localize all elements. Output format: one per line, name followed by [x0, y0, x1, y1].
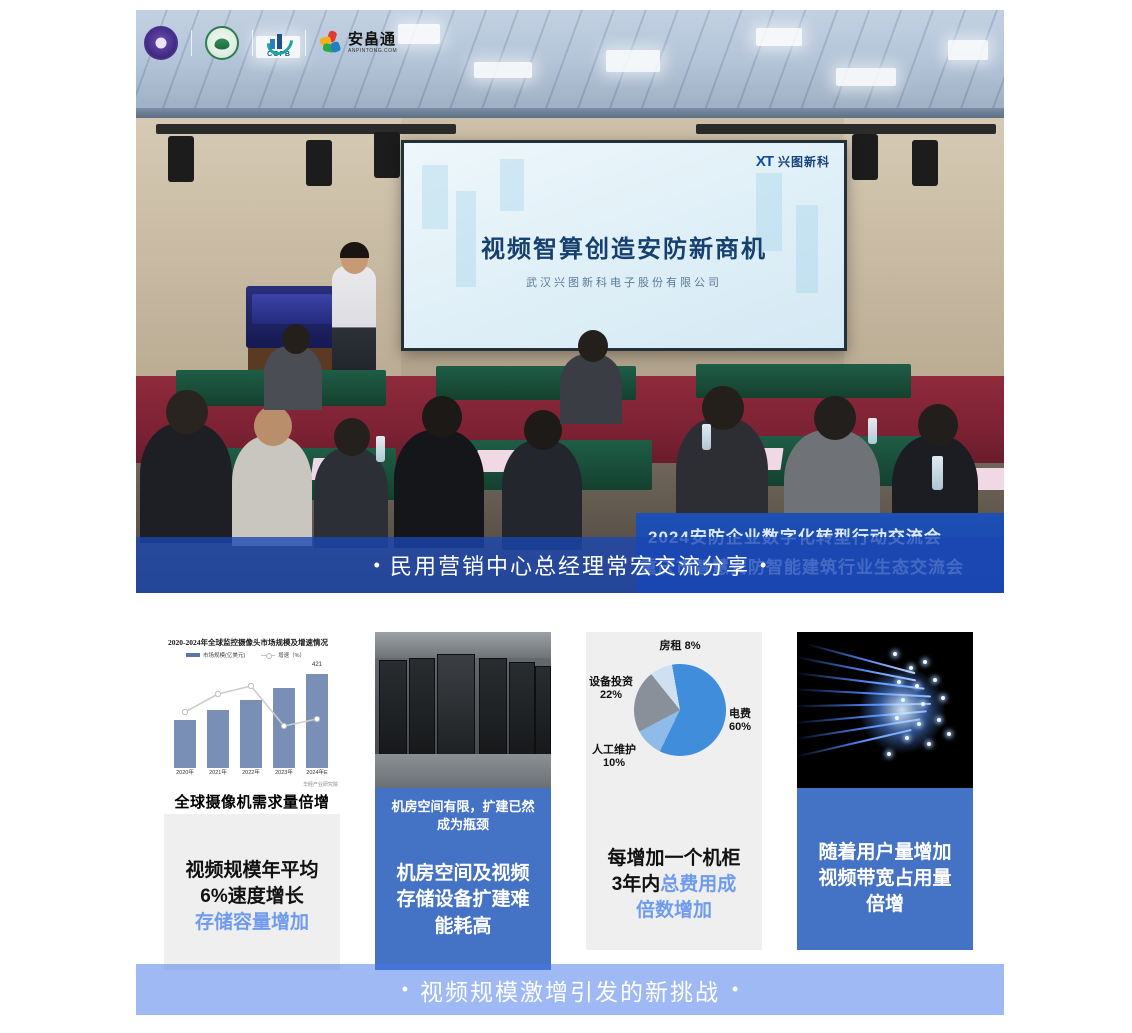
infographic-card-row: 2020-2024年全球监控摄像头市场规模及增速情况 市场规模(亿美元) 增速（…: [164, 632, 979, 982]
server-rack: [437, 654, 475, 760]
audience-head: [524, 410, 562, 450]
audience-member: [314, 448, 388, 548]
fiber-optic-photo: [797, 632, 973, 788]
ceiling-truss: [156, 124, 456, 134]
fiber-tip: [941, 696, 945, 700]
fiber-tip: [901, 698, 905, 702]
card-media-pie: 房租 8% 设备投资 22% 人工维护 10% 电费 60%: [586, 632, 762, 788]
presenter-figure: [332, 266, 376, 371]
camera-market-chart: 2020-2024年全球监控摄像头市场规模及增速情况 市场规模(亿美元) 增速（…: [164, 632, 340, 788]
speaker-box-icon: [912, 140, 938, 186]
fiber-tip: [915, 684, 919, 688]
chart-growth-line: [170, 664, 334, 768]
card-headline: 每增加一个机柜 3年内总费用成 倍数增加: [594, 846, 754, 925]
fiber-tip: [909, 666, 913, 670]
audience-head: [578, 330, 608, 362]
ceiling-edge: [136, 108, 1004, 118]
card-body: 机房空间有限，扩建已然 成为瓶颈 机房空间及视频 存储设备扩建难 能耗高: [375, 788, 551, 954]
fiber-tip: [897, 680, 901, 684]
server-rack: [509, 662, 535, 758]
ceiling-light: [756, 28, 802, 46]
audience-head: [422, 396, 462, 438]
card-cabinet-cost: 房租 8% 设备投资 22% 人工维护 10% 电费 60% 每增加一个机柜 3…: [586, 632, 762, 950]
chart-x-tick: 2023年: [268, 768, 300, 776]
fiber-tip: [947, 732, 951, 736]
xt-mark-text: XT: [756, 153, 773, 170]
card-strip-label: 全球摄像机需求量倍增: [164, 788, 340, 814]
logo-divider: [305, 30, 306, 56]
card-headline-plain: 视频规模年平均 6%速度增长: [185, 860, 318, 907]
legend-label-line: 增速（%）: [278, 651, 305, 659]
event-photo: COFB 安畠通 ANPINTONG.COM: [136, 10, 1004, 593]
speaker-box-icon: [168, 136, 194, 182]
fiber-tip: [933, 678, 937, 682]
fiber-tip: [895, 716, 899, 720]
photo-caption-bar: • 民用营销中心总经理常宏交流分享 •: [136, 537, 1004, 593]
card-bandwidth-growth: 随着用户量增加 视频带宽占用量 倍增: [797, 632, 973, 950]
bottom-bullet-right: •: [732, 979, 738, 1000]
server-rack: [535, 666, 551, 756]
legend-item-bar: 市场规模(亿美元): [186, 651, 245, 659]
chart-x-tick: 2020年: [169, 768, 201, 776]
chart-title: 2020-2024年全球监控摄像头市场规模及增速情况: [168, 637, 338, 648]
audience-head: [254, 406, 292, 446]
card-media-chart: 2020-2024年全球监控摄像头市场规模及增速情况 市场规模(亿美元) 增速（…: [164, 632, 340, 788]
bottom-caption-bar: • 视频规模激增引发的新挑战 •: [136, 964, 1004, 1015]
legend-swatch-bar: [186, 653, 200, 657]
anpintong-logo-subtitle: ANPINTONG.COM: [348, 49, 397, 54]
water-bottle: [932, 456, 943, 490]
cofb-logo-icon: COFB: [266, 29, 292, 58]
pie-label-equipment: 设备投资 22%: [588, 676, 634, 702]
fiber-tip: [923, 660, 927, 664]
presentation-screen: XT 兴图新科 视频智算创造安防新商机 武汉兴图新科电子股份有限公司: [401, 140, 847, 351]
fiber-tip: [937, 718, 941, 722]
audience-member: [264, 346, 322, 410]
ceiling-light: [398, 24, 440, 44]
card-kicker: 机房空间有限，扩建已然 成为瓶颈: [383, 798, 543, 833]
cost-structure-pie-chart: 房租 8% 设备投资 22% 人工维护 10% 电费 60%: [586, 632, 762, 788]
pie-label-rent: 房租 8%: [640, 640, 720, 653]
card-media-photo: [375, 632, 551, 788]
card-headline: 随着用户量增加 视频带宽占用量 倍增: [805, 840, 965, 919]
water-bottle: [868, 418, 877, 444]
presenter-company-logo: XT 兴图新科: [756, 153, 830, 170]
chart-x-tick: 2024年E: [301, 768, 333, 776]
slide-subtitle: 武汉兴图新科电子股份有限公司: [404, 274, 844, 290]
logo-bar: COFB 安畠通 ANPINTONG.COM: [144, 26, 397, 60]
anpintong-logo-text: 安畠通: [348, 32, 397, 47]
slide-title: 视频智算创造安防新商机: [404, 229, 844, 264]
speaker-box-icon: [852, 134, 878, 180]
ceiling-light: [948, 40, 988, 60]
server-rack: [409, 658, 435, 758]
card-data-center-space: 机房空间有限，扩建已然 成为瓶颈 机房空间及视频 存储设备扩建难 能耗高: [375, 632, 551, 970]
audience-head: [282, 324, 310, 354]
card-media-photo: [797, 632, 973, 788]
card-headline-highlight: 存储容量增加: [195, 912, 309, 933]
audience-member: [140, 423, 232, 543]
fiber-tip: [927, 742, 931, 746]
audience-member: [232, 436, 312, 546]
pie-graphic: [627, 657, 734, 764]
logo-divider: [191, 30, 192, 56]
chart-legend: 市场规模(亿美元) 增速（%）: [186, 651, 305, 659]
screen-decoration: [500, 159, 524, 211]
pie-label-maintenance: 人工维护 10%: [588, 744, 640, 770]
server-rack: [479, 658, 507, 758]
legend-item-line: 增速（%）: [261, 651, 305, 659]
chart-source-label: 华经产业研究院: [303, 781, 338, 788]
purple-institutional-seal-icon: [144, 26, 178, 60]
card-headline: 视频规模年平均 6%速度增长 存储容量增加: [172, 858, 332, 937]
caption-bullet-right: •: [760, 555, 766, 576]
ceiling-light: [606, 50, 660, 72]
speaker-box-icon: [306, 140, 332, 186]
fiber-tip: [893, 652, 897, 656]
pie-label-electricity: 电费 60%: [720, 708, 760, 734]
speaker-box-icon: [374, 132, 400, 178]
card-strip-text: 全球摄像机需求量倍增: [174, 791, 329, 812]
anpintong-logo-icon: 安畠通 ANPINTONG.COM: [319, 31, 397, 55]
chart-plot-area: 421: [170, 664, 334, 768]
fiber-tip: [917, 722, 921, 726]
ceiling-light: [836, 68, 896, 86]
page-root: COFB 安畠通 ANPINTONG.COM: [0, 0, 1132, 1033]
chart-x-tick: 2022年: [235, 768, 267, 776]
ceiling-truss: [696, 124, 996, 134]
audience-member: [502, 440, 582, 550]
xt-brand-text: 兴图新科: [778, 153, 830, 170]
card-body: 随着用户量增加 视频带宽占用量 倍增: [797, 788, 973, 933]
fiber-tip: [905, 736, 909, 740]
audience-member: [560, 354, 622, 424]
fiber-tip: [887, 752, 891, 756]
audience-head: [918, 404, 958, 446]
caption-bullet-left: •: [374, 555, 380, 576]
audience-head: [166, 390, 208, 434]
ceiling-light: [474, 62, 532, 78]
legend-swatch-line: [261, 655, 275, 656]
card-body: 视频规模年平均 6%速度增长 存储容量增加: [164, 814, 340, 951]
card-global-camera-demand: 2020-2024年全球监控摄像头市场规模及增速情况 市场规模(亿美元) 增速（…: [164, 632, 340, 970]
fiber-tip: [921, 702, 925, 706]
logo-divider: [252, 30, 253, 56]
water-bottle: [376, 436, 385, 462]
chart-x-tick: 2021年: [202, 768, 234, 776]
audience-member: [394, 430, 484, 548]
chart-x-axis: 2020年 2021年 2022年 2023年 2024年E: [170, 768, 334, 782]
server-rack: [379, 660, 407, 758]
datacenter-floor: [375, 754, 551, 788]
card-body: 每增加一个机柜 3年内总费用成 倍数增加: [586, 788, 762, 939]
legend-label-bar: 市场规模(亿美元): [203, 651, 245, 659]
green-institutional-seal-icon: [205, 26, 239, 60]
datacenter-photo: [375, 632, 551, 788]
bottom-caption-text: 视频规模激增引发的新挑战: [420, 973, 720, 1007]
water-bottle: [702, 424, 711, 450]
audience-head: [334, 418, 370, 456]
card-headline: 机房空间及视频 存储设备扩建难 能耗高: [383, 861, 543, 940]
photo-caption-text: 民用营销中心总经理常宏交流分享: [390, 549, 750, 581]
bottom-bullet-left: •: [402, 979, 408, 1000]
conference-room: XT 兴图新科 视频智算创造安防新商机 武汉兴图新科电子股份有限公司: [136, 118, 1004, 593]
screen-decoration: [422, 165, 448, 229]
audience-head: [814, 396, 856, 440]
